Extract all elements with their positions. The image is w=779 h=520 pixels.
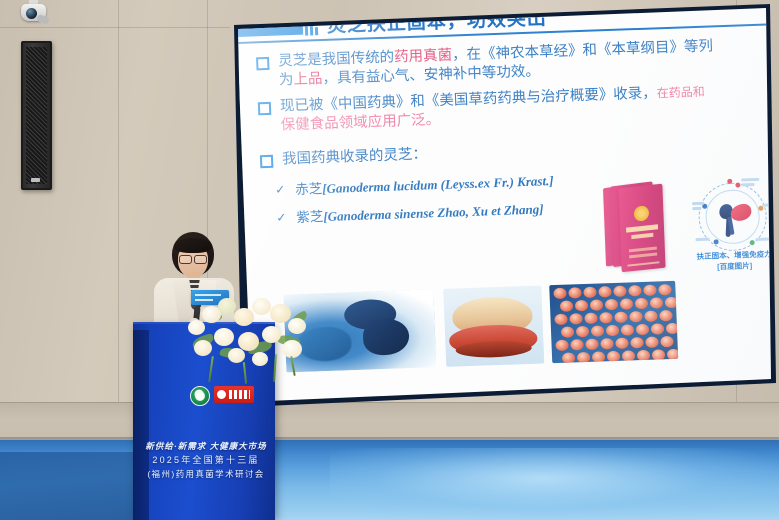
photo-ganoderma-closeup (443, 286, 544, 367)
cultivation-mushroom (606, 325, 619, 336)
species-latin: [Ganoderma sinense Zhao, Xu et Zhang] (323, 201, 544, 224)
cultivation-mushroom (590, 299, 603, 310)
species-latin: [Ganoderma lucidum (Leyss.ex Fr.) Krast.… (322, 173, 554, 196)
hair-fringe (174, 238, 212, 253)
cultivation-mushroom (575, 300, 588, 311)
bullet-square-icon (260, 154, 274, 167)
cultivation-mushroom (598, 286, 611, 297)
cultivation-mushroom (620, 298, 633, 309)
floor-light-reflection (330, 448, 779, 520)
cultivation-mushroom (591, 325, 604, 336)
cultivation-mushroom (584, 313, 597, 324)
sponsor-logo-icon (214, 386, 254, 403)
association-emblem-icon (190, 386, 210, 406)
species-cn: 赤芝 (295, 181, 323, 197)
cultivation-mushroom (553, 288, 566, 299)
bullet-text: 灵芝是我国传统的 (278, 50, 395, 70)
podium-slogan: 新供给·新需求 大健康大市场 (140, 440, 272, 453)
photo-ganoderma-cultivation (549, 281, 678, 363)
cultivation-mushroom (560, 300, 573, 311)
cultivation-mushroom (660, 336, 673, 347)
cultivation-mushroom (568, 287, 581, 298)
diagram-caption: 扶正固本、增强免疫力 [百度图片] (686, 249, 776, 274)
book-volume (618, 184, 665, 273)
cultivation-mushroom (650, 297, 663, 308)
conference-photo-scene: 灵芝扶正固本，功效突出 灵芝是我国传统的药用真菌，在《神农本草经》和《本草纲目》… (0, 0, 779, 520)
cultivation-mushroom (667, 349, 678, 360)
bullet-text: 为 (279, 72, 294, 88)
cultivation-mushroom (643, 285, 656, 296)
podium-event-name: (福州)药用真菌学术研讨会 (140, 468, 272, 482)
cultivation-mushroom (615, 338, 628, 349)
cultivation-mushroom (652, 349, 665, 360)
cultivation-mushroom (636, 324, 649, 335)
cultivation-mushroom (637, 350, 650, 361)
podium-event-year: 2025年全国第十三届 (140, 453, 272, 468)
cultivation-mushroom (605, 299, 618, 310)
species-cn: 紫芝 (296, 209, 324, 225)
bullet-highlight: 上品 (293, 71, 323, 88)
camera-arm (36, 14, 50, 25)
cultivation-mushroom (614, 312, 627, 323)
check-icon: ✓ (275, 181, 286, 201)
cultivation-mushroom (666, 323, 678, 334)
cultivation-mushroom (629, 311, 642, 322)
cultivation-mushroom (659, 310, 672, 321)
cultivation-mushroom (562, 352, 575, 363)
cultivation-mushroom (600, 338, 613, 349)
cultivation-mushroom (561, 326, 574, 337)
pharmacopoeia-books-image (601, 181, 676, 273)
cultivation-mushroom (645, 336, 658, 347)
wall-seam (118, 0, 119, 402)
column-speaker (21, 41, 52, 190)
cultivation-mushroom (658, 284, 671, 295)
cultivation-mushroom (576, 326, 589, 337)
cultivation-mushroom (628, 285, 641, 296)
cultivation-mushroom (577, 352, 590, 363)
cultivation-mushroom (569, 313, 582, 324)
cultivation-mushroom (554, 314, 567, 325)
cultivation-mushroom (583, 287, 596, 298)
podium-signage: 新供给·新需求 大健康大市场 2025年全国第十三届 (福州)药用真菌学术研讨会 (140, 440, 272, 482)
bullet-square-icon (258, 102, 272, 115)
cultivation-mushroom (570, 339, 583, 350)
bullet-highlight: 药用真菌 (394, 47, 453, 65)
cultivation-mushroom (630, 337, 643, 348)
cultivation-mushroom (622, 350, 635, 361)
eyeglasses-icon (179, 255, 207, 262)
cultivation-mushroom (635, 298, 648, 309)
flower-arrangement (186, 296, 318, 376)
cultivation-mushroom (585, 339, 598, 350)
cultivation-mushroom (644, 310, 657, 321)
camera-lens (26, 8, 37, 19)
cultivation-mushroom (599, 312, 612, 323)
photo-strip (283, 281, 678, 377)
podium-side-panel (133, 330, 149, 520)
security-camera-icon (17, 0, 49, 28)
cultivation-mushroom (555, 340, 568, 351)
slide-bullet-list: 灵芝是我国传统的药用真菌，在《神农本草经》和《本草纲目》等列 为上品，具有益心气… (256, 34, 767, 230)
national-emblem-icon (634, 205, 650, 222)
speaker-grill (26, 47, 47, 184)
cultivation-mushroom (613, 286, 626, 297)
cultivation-mushroom (665, 297, 678, 308)
cultivation-mushroom (651, 323, 664, 334)
speaker-badge (31, 178, 40, 182)
immunity-diagram-image: 扶正固本、增强免疫力 [百度图片] (691, 175, 774, 264)
check-icon: ✓ (276, 208, 287, 228)
cultivation-mushroom (592, 351, 605, 362)
cultivation-mushroom (607, 351, 620, 362)
bullet-highlight: 在药品和 (656, 85, 705, 101)
cultivation-mushroom (621, 324, 634, 335)
bullet-square-icon (256, 57, 270, 70)
